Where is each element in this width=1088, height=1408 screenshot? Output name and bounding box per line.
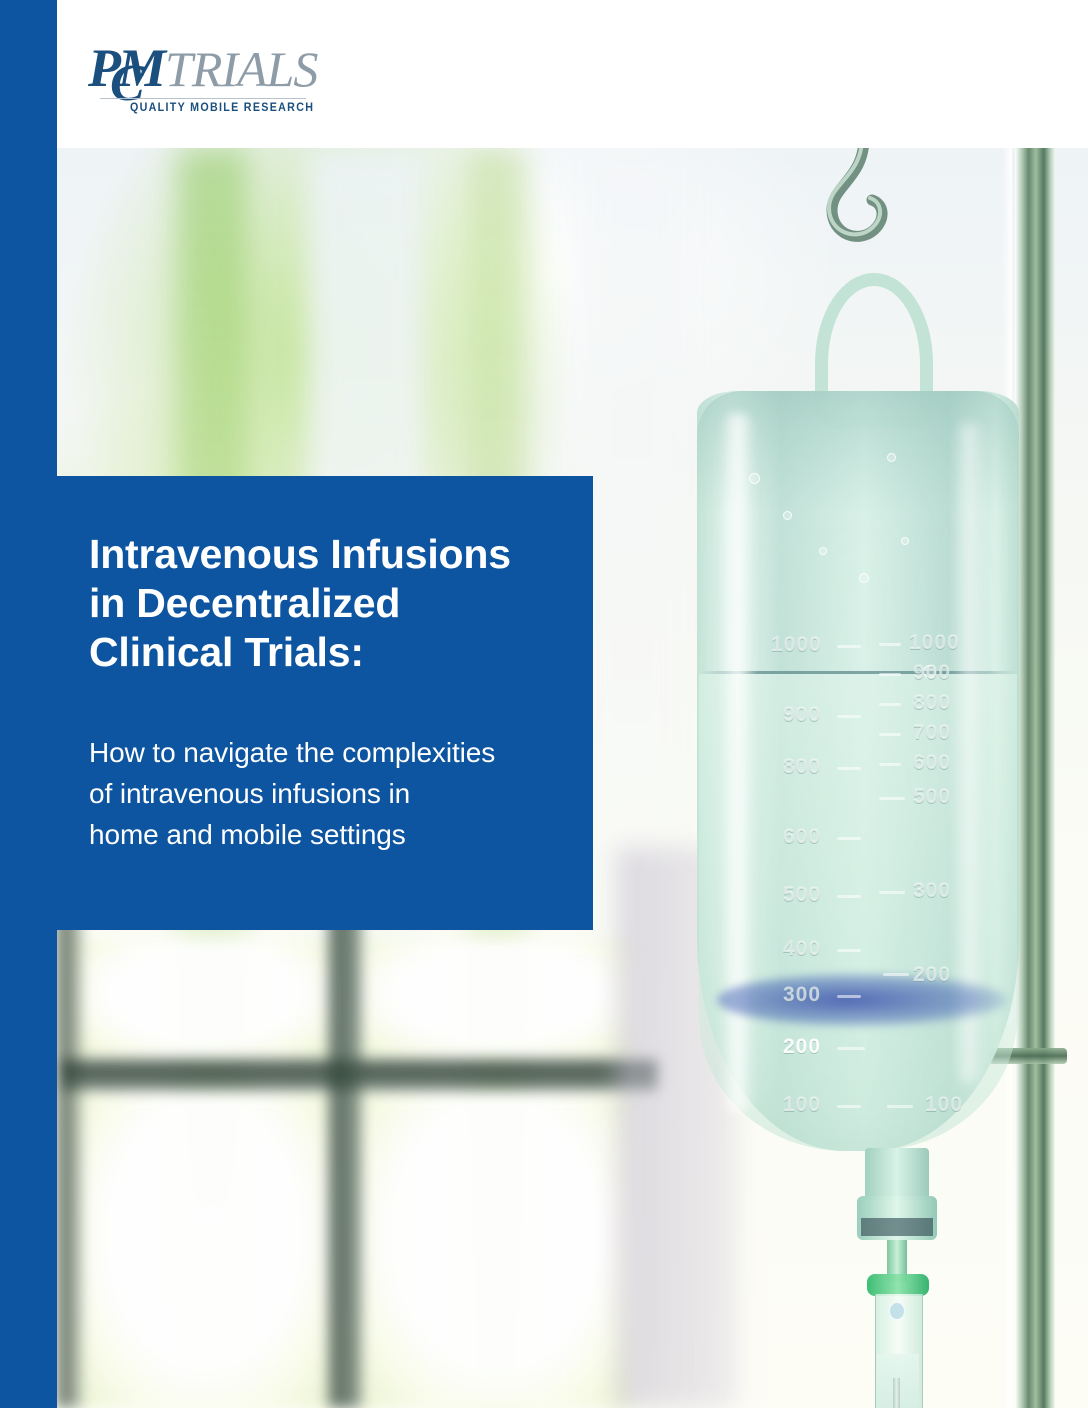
logo-divider-rule [100,98,306,99]
window-mullion-vertical [329,908,361,1408]
graduation-tick [837,995,861,998]
graduation-tick [879,703,901,706]
air-bubble [887,453,896,462]
graduation-label: 500 [783,883,821,907]
graduation-tick [879,763,901,766]
iv-hook-icon [802,148,932,268]
graduation-tick [837,1047,865,1050]
title-line-1: Intravenous Infusions [89,531,511,577]
subtitle-line-3: home and mobile settings [89,819,406,850]
air-bubble [901,537,909,545]
graduation-label: 1000 [909,631,960,655]
graduation-label: 700 [913,721,951,745]
subtitle-line-1: How to navigate the complexities [89,737,495,768]
graduation-tick [879,891,905,894]
graduation-tick [837,837,861,840]
graduation-label: 800 [783,755,821,779]
graduation-label: 1000 [771,633,822,657]
title-line-2: in Decentralized [89,580,400,626]
logo-wordmark-row: PM C TRIALS [88,42,318,94]
cover-page: PM C TRIALS QUALITY MOBILE RESEARCH [0,0,1088,1408]
graduation-tick [837,715,861,718]
pcm-trials-logo[interactable]: PM C TRIALS QUALITY MOBILE RESEARCH [88,42,318,120]
iv-drip-chamber-assembly [837,1148,957,1408]
logo-word-trials: TRIALS [165,43,317,95]
iv-tubing [893,1378,900,1408]
graduation-label: 100 [925,1093,963,1117]
fluid-droplet [889,1302,905,1320]
window-pane [362,940,632,1058]
graduation-tick [879,797,905,800]
page-subtitle: How to navigate the complexities of intr… [89,677,549,855]
bag-outlet-seal-band [861,1218,933,1236]
iv-bag: 1000 900 800 600 500 400 300 200 100 100… [687,273,1027,1223]
graduation-label: 200 [783,1035,821,1059]
graduation-label: 600 [913,751,951,775]
page-title: Intravenous Infusions in Decentralized C… [89,530,549,677]
air-bubble [749,473,760,484]
graduation-label: 900 [913,661,951,685]
graduation-label: 400 [783,937,821,961]
graduation-tick [837,767,861,770]
graduation-tick [879,733,901,736]
graduation-tick [883,973,909,976]
graduation-label: 300 [783,983,821,1007]
graduation-tick [887,1105,913,1108]
window-pane [362,1093,632,1408]
air-bubble [783,511,792,520]
blurred-window [57,848,677,1408]
air-bubble [819,547,827,555]
title-block: Intravenous Infusions in Decentralized C… [57,476,593,930]
window-pane [79,940,329,1058]
graduation-tick [837,895,861,898]
graduation-label: 100 [783,1093,821,1117]
window-pane [79,1093,329,1408]
subtitle-line-2: of intravenous infusions in [89,778,410,809]
graduation-tick [837,949,861,952]
graduation-label: 600 [783,825,821,849]
graduation-tick [837,645,861,648]
air-bubble [859,573,869,583]
window-frame-edge [57,908,81,1408]
bag-outlet-neck [865,1148,929,1200]
iv-bag-blue-reflection [717,973,1007,1027]
logo-monogram: PM C [88,42,163,94]
logo-tagline: QUALITY MOBILE RESEARCH [130,102,314,114]
graduation-tick [879,673,901,676]
left-blue-spine [0,0,57,1408]
graduation-label: 800 [913,691,951,715]
graduation-label: 300 [913,879,951,903]
graduation-label: 500 [913,785,951,809]
title-line-3: Clinical Trials: [89,629,364,675]
graduation-label: 200 [913,963,951,987]
graduation-tick [837,1105,861,1108]
graduation-label: 900 [783,703,821,727]
graduation-tick [879,643,901,646]
drip-chamber-cap [867,1274,929,1296]
